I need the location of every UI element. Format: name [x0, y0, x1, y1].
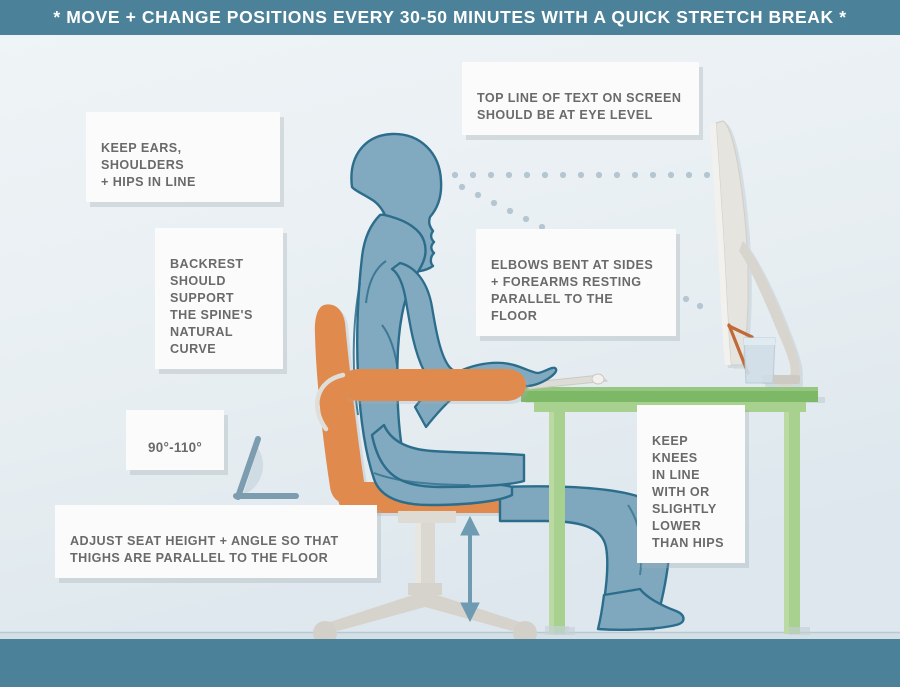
keep-knees-in-line-callout: KEEP KNEES IN LINE WITH OR SLIGHTLY LOWE… [637, 405, 745, 563]
desk-top-highlight [521, 387, 818, 391]
header-banner: * MOVE + CHANGE POSITIONS EVERY 30-50 MI… [0, 0, 900, 35]
elbows-bent-callout-text: ELBOWS BENT AT SIDES + FOREARMS RESTING … [491, 258, 653, 323]
chair-seat-plate [398, 511, 456, 523]
knee-angle-callout-text: 90°-110° [148, 440, 202, 455]
infographic-canvas: * MOVE + CHANGE POSITIONS EVERY 30-50 MI… [0, 0, 900, 687]
elbows-bent-callout: ELBOWS BENT AT SIDES + FOREARMS RESTING … [476, 229, 676, 336]
eye-line-horizontal-dots [452, 172, 710, 178]
backrest-support-callout: BACKREST SHOULD SUPPORT THE SPINE'S NATU… [155, 228, 283, 369]
header-title: * MOVE + CHANGE POSITIONS EVERY 30-50 MI… [53, 7, 846, 28]
backrest-support-callout-text: BACKREST SHOULD SUPPORT THE SPINE'S NATU… [170, 257, 253, 356]
keep-ears-shoulders-callout: KEEP EARS, SHOULDERS + HIPS IN LINE [86, 112, 280, 202]
desk-leg-front-foot [545, 626, 569, 635]
desk-leg-back-highlight [784, 412, 789, 634]
adjust-seat-height-callout: ADJUST SEAT HEIGHT + ANGLE SO THAT THIGH… [55, 505, 377, 578]
keep-knees-in-line-callout-text: KEEP KNEES IN LINE WITH OR SLIGHTLY LOWE… [652, 434, 724, 550]
desk-leg-back-shadow [788, 627, 810, 635]
knee-angle-callout: 90°-110° [126, 410, 224, 470]
lumbar-cushion [340, 369, 526, 401]
top-line-of-text-callout: TOP LINE OF TEXT ON SCREEN SHOULD BE AT … [462, 62, 699, 135]
footer-banner [0, 639, 900, 687]
mouse [592, 374, 604, 384]
top-line-of-text-callout-text: TOP LINE OF TEXT ON SCREEN SHOULD BE AT … [477, 91, 681, 122]
keep-ears-shoulders-callout-text: KEEP EARS, SHOULDERS + HIPS IN LINE [101, 141, 196, 189]
pencil-cup-rim [744, 338, 775, 345]
illustration-scene: TOP LINE OF TEXT ON SCREEN SHOULD BE AT … [0, 35, 900, 639]
chair-cylinder-highlight [415, 523, 421, 585]
desk-leg-front-overlay-highlight [549, 412, 554, 634]
adjust-seat-height-callout-text: ADJUST SEAT HEIGHT + ANGLE SO THAT THIGH… [70, 534, 339, 565]
